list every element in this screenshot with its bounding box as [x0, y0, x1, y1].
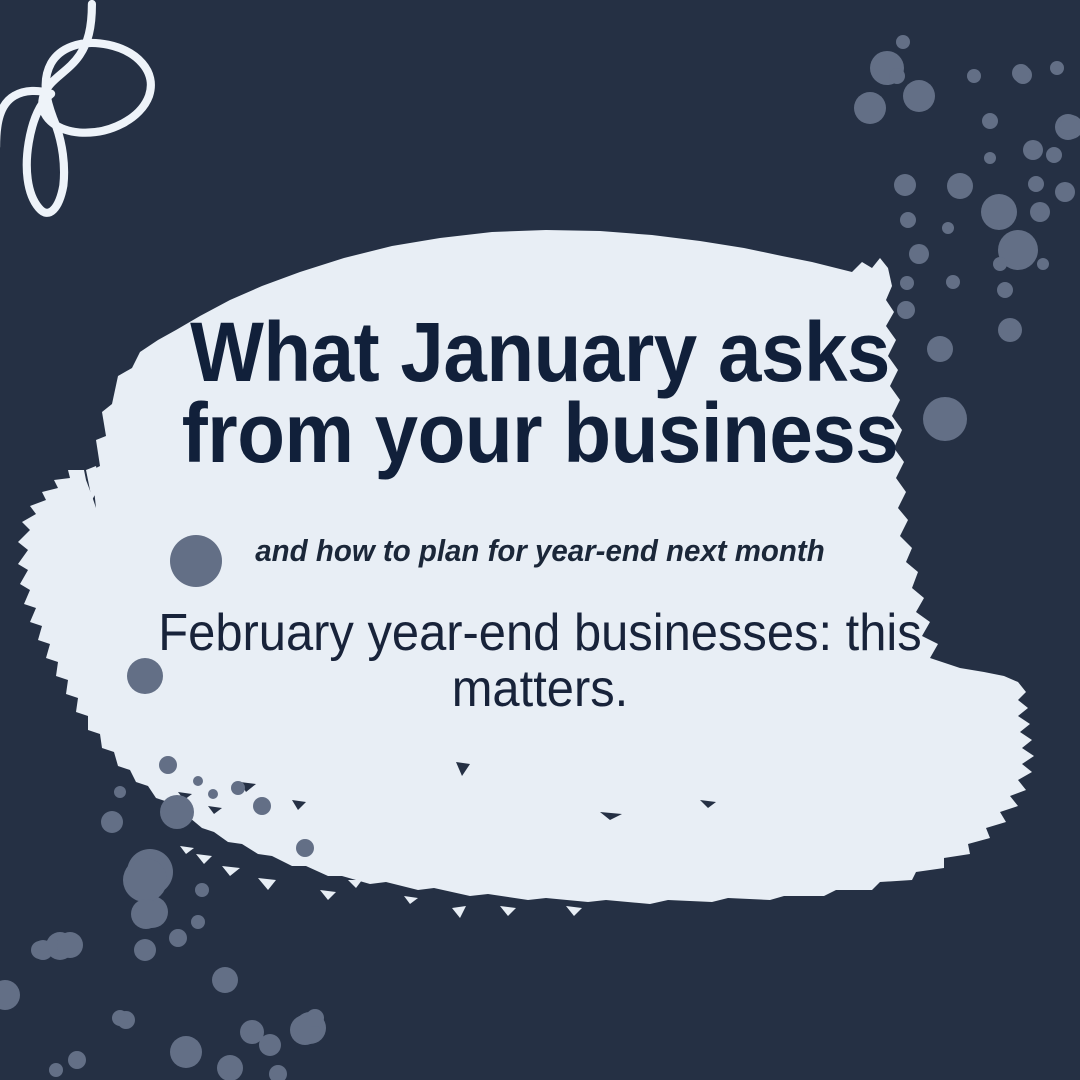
body-text: February year-end businesses: this matte… [145, 605, 935, 717]
poster-content: What January asks from your business and… [0, 0, 1080, 1080]
subtitle-text: and how to plan for year-end next month [141, 533, 939, 569]
page-title: What January asks from your business [149, 312, 930, 475]
poster-canvas: What January asks from your business and… [0, 0, 1080, 1080]
